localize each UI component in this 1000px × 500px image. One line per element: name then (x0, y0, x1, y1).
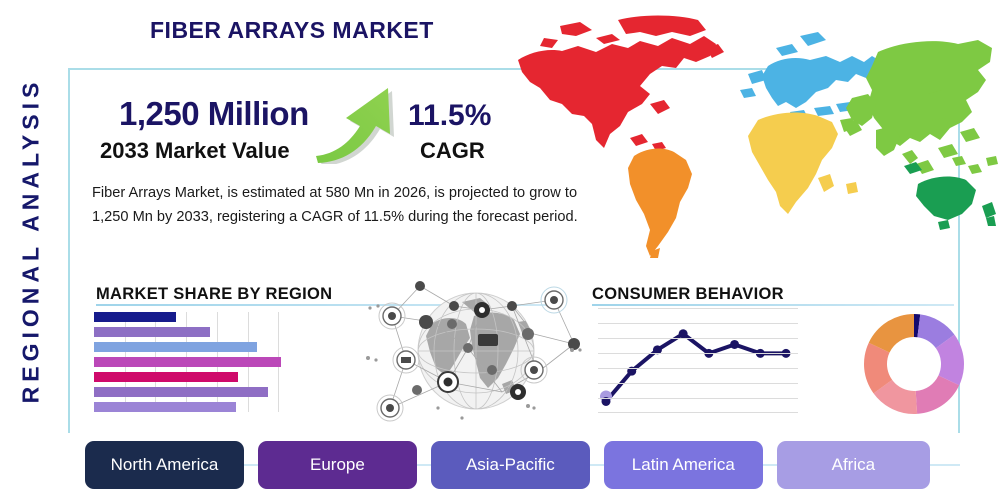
region-button-label: Latin America (632, 455, 735, 475)
bar-chart-bar (94, 372, 309, 382)
region-button-asia-pacific[interactable]: Asia-Pacific (431, 441, 590, 489)
bar-chart-bar (94, 387, 309, 397)
region-button-label: Africa (832, 455, 875, 475)
market-share-section-title: MARKET SHARE BY REGION (96, 285, 332, 304)
region-button-label: North America (111, 455, 219, 475)
region-button-north-america[interactable]: North America (85, 441, 244, 489)
market-value-label: 2033 Market Value (100, 138, 290, 164)
region-donut-chart (858, 308, 970, 420)
line-chart-gridlines (598, 308, 798, 413)
region-button-label: Europe (310, 455, 365, 475)
page-title: FIBER ARRAYS MARKET (150, 17, 434, 44)
region-button-africa[interactable]: Africa (777, 441, 930, 489)
bar-chart-bar (94, 312, 309, 322)
cagr-figure: 11.5% (408, 99, 491, 133)
bar-chart-bars (94, 312, 309, 412)
cagr-label: CAGR (420, 138, 485, 164)
market-value-figure: 1,250 Million (119, 95, 309, 133)
infographic-root: REGIONAL ANALYSIS FIBER ARRAYS MARKET 1,… (0, 0, 1000, 500)
world-map-icon (500, 8, 1000, 263)
bar-chart-bar (94, 327, 309, 337)
global-network-globe-icon (362, 272, 590, 430)
bar-chart-bar (94, 357, 309, 367)
consumer-behavior-line-chart (598, 308, 798, 413)
region-button-europe[interactable]: Europe (258, 441, 417, 489)
side-label-text: REGIONAL ANALYSIS (18, 77, 45, 403)
market-share-bar-chart (94, 312, 309, 412)
region-button-bar: North AmericaEuropeAsia-PacificLatin Ame… (85, 440, 930, 490)
consumer-behavior-underline (592, 304, 954, 306)
bar-chart-bar (94, 402, 309, 412)
vertical-side-label: REGIONAL ANALYSIS (8, 40, 54, 440)
region-button-latin-america[interactable]: Latin America (604, 441, 763, 489)
consumer-behavior-section-title: CONSUMER BEHAVIOR (592, 285, 784, 304)
growth-arrow-icon (310, 84, 405, 164)
region-button-label: Asia-Pacific (466, 455, 555, 475)
bar-chart-bar (94, 342, 309, 352)
